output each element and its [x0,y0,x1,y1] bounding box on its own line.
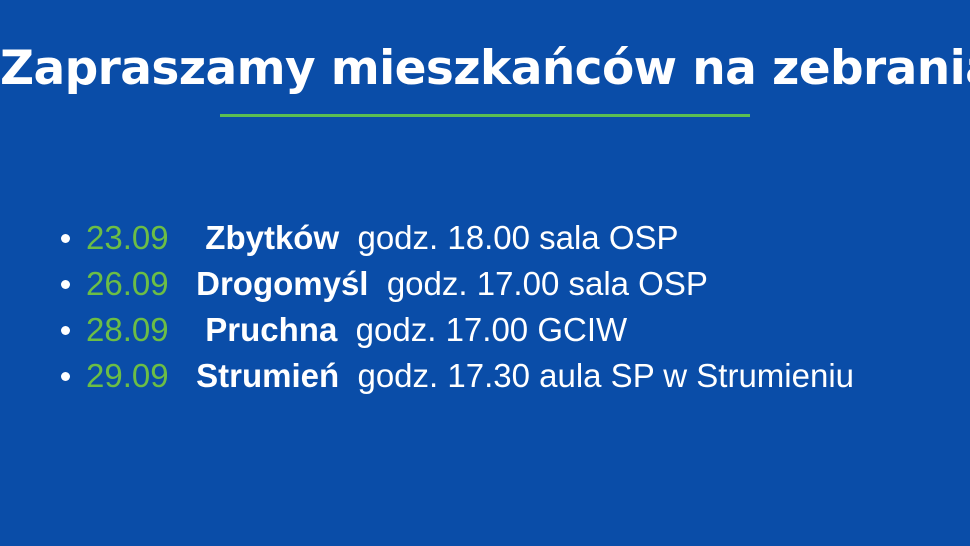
bullet-dot-icon [61,234,70,243]
bullet-dot-icon [61,326,70,335]
meeting-place: Zbytków [205,219,339,256]
meeting-date: 29.09 [86,357,169,394]
bullet-dot-icon [61,372,70,381]
meeting-place: Pruchna [205,311,337,348]
title-underline-rule [220,114,750,117]
meeting-date: 23.09 [86,219,169,256]
page-title: Zapraszamy mieszkańców na zebrania [0,44,970,95]
meeting-detail: godz. 17.00 GCIW [347,311,628,348]
list-item: 28.09 Pruchna godz. 17.00 GCIW [50,313,930,347]
list-item: 29.09 Strumień godz. 17.30 aula SP w Str… [50,359,930,393]
meeting-place: Strumień [196,357,339,394]
announcement-slide: Zapraszamy mieszkańców na zebrania 23.09… [0,0,970,546]
meeting-gap [178,357,187,394]
title-block: Zapraszamy mieszkańców na zebrania [0,44,970,117]
meeting-gap [178,219,196,256]
meeting-date: 26.09 [86,265,169,302]
meeting-gap [178,265,187,302]
meeting-detail: godz. 17.30 aula SP w Strumieniu [348,357,854,394]
meetings-list: 23.09 Zbytków godz. 18.00 sala OSP 26.09… [50,221,930,393]
meeting-detail: godz. 17.00 sala OSP [378,265,708,302]
bullet-dot-icon [61,280,70,289]
list-item: 26.09 Drogomyśl godz. 17.00 sala OSP [50,267,930,301]
meeting-place: Drogomyśl [196,265,368,302]
meeting-detail: godz. 18.00 sala OSP [348,219,678,256]
list-item: 23.09 Zbytków godz. 18.00 sala OSP [50,221,930,255]
meeting-date: 28.09 [86,311,169,348]
meeting-gap [178,311,196,348]
